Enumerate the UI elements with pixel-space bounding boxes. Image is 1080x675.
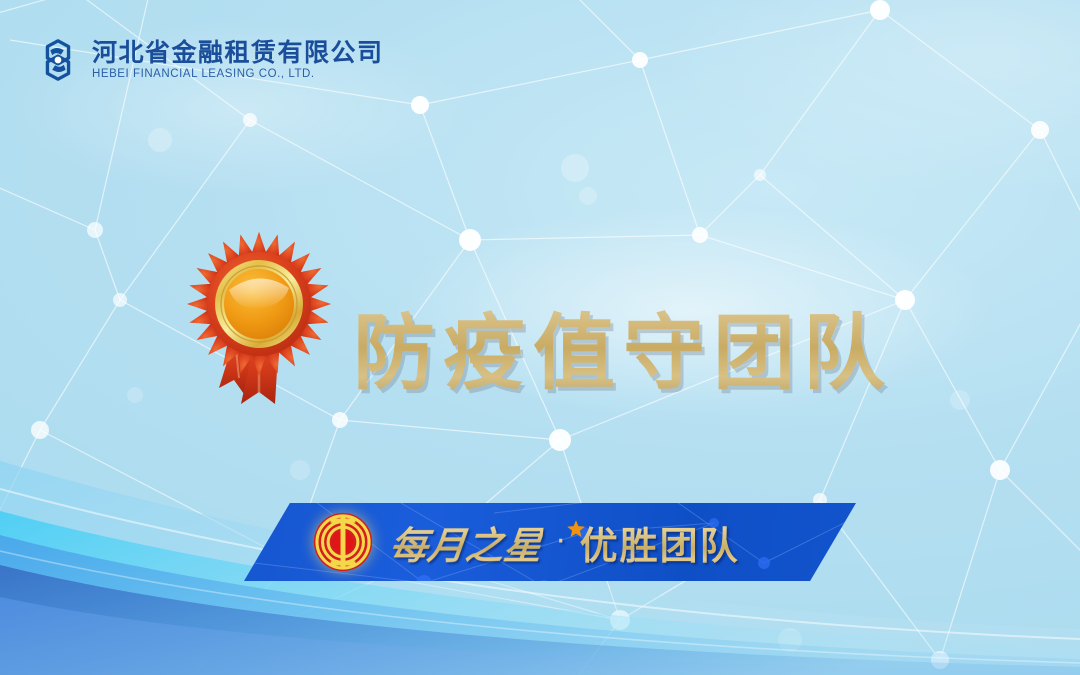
hebei-financial-leasing-logo-icon xyxy=(34,36,82,84)
award-banner: 每月之星 · 优胜团队 xyxy=(244,503,856,581)
banner-text-group: 每月之星 · 优胜团队 xyxy=(390,515,740,570)
page-title: 防疫值守团队 xyxy=(353,286,893,405)
company-logo: 河北省金融租赁有限公司 HEBEI FINANCIAL LEASING CO.,… xyxy=(34,36,384,84)
team-label: 优胜团队 xyxy=(580,515,740,570)
company-name-block: 河北省金融租赁有限公司 HEBEI FINANCIAL LEASING CO.,… xyxy=(92,40,384,81)
acftu-union-emblem-icon xyxy=(312,511,374,573)
award-rosette-ribbon-icon xyxy=(183,228,335,408)
company-name-cn: 河北省金融租赁有限公司 xyxy=(92,40,384,65)
company-name-en: HEBEI FINANCIAL LEASING CO., LTD. xyxy=(92,69,384,81)
award-slide: 河北省金融租赁有限公司 HEBEI FINANCIAL LEASING CO.,… xyxy=(0,0,1080,675)
award-name: 每月之星 xyxy=(387,515,545,570)
banner-content: 每月之星 · 优胜团队 xyxy=(244,503,856,581)
banner-separator: · xyxy=(556,527,566,557)
